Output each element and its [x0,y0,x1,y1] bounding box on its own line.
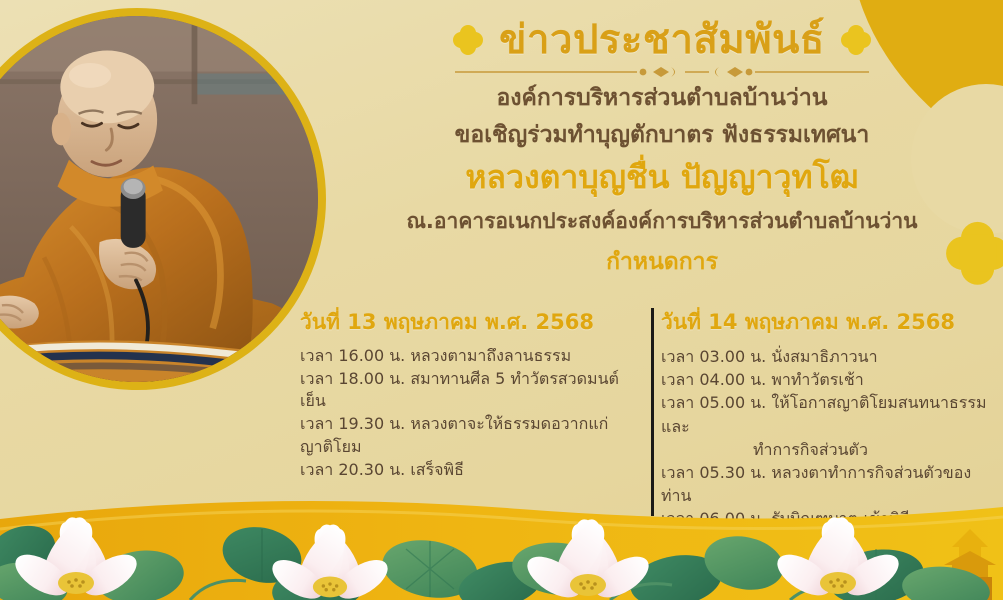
schedule-item: เวลา 20.30 น. เสร็จพิธี [300,459,631,482]
schedule-item: เวลา 04.00 น. พาทำวัตรเช้า [661,368,997,391]
title-divider-ornament [447,64,877,78]
monk-name: หลวงตาบุญชื่น ปัญญาวุทโฒ [332,158,992,196]
schedule-item-continuation: ทำการกิจส่วนตัว [661,438,997,461]
schedule-column-day2: วันที่ 14 พฤษภาคม พ.ศ. 2568 เวลา 03.00 น… [645,306,997,600]
schedule-item-continuation: ไหว้พระรับศีลถวายทาน พิจารณา [661,554,997,577]
schedule-section: วันที่ 13 พฤษภาคม พ.ศ. 2568 เวลา 16.00 น… [300,306,1000,600]
column-divider [651,308,654,516]
page-title: ข่าวประชาสัมพันธ์ [499,18,825,62]
schedule-item: เวลา 03.00 น. นั่งสมาธิภาวนา [661,345,997,368]
day2-date-title: วันที่ 14 พฤษภาคม พ.ศ. 2568 [661,306,997,339]
organization-name: องค์การบริหารส่วนตำบลบ้านว่าน [332,84,992,113]
monk-portrait-frame [0,8,326,390]
header-block: ข่าวประชาสัมพันธ์ องค์การบริหารส่วนตำบลบ… [332,18,992,280]
quatrefoil-ornament-left-icon [453,25,483,55]
quatrefoil-ornament-right-icon [841,25,871,55]
schedule-column-day1: วันที่ 13 พฤษภาคม พ.ศ. 2568 เวลา 16.00 น… [300,306,645,600]
title-row: ข่าวประชาสัมพันธ์ [332,18,992,62]
schedule-item: เวลา 06.00 น. รับบิณฑบาต-เข้าพิธีทางพุทธ… [661,507,997,553]
schedule-item: เวลา 05.00 น. ให้โอกาสญาติโยมสนทนาธรรมแล… [661,391,997,437]
schedule-item: เวลา 18.00 น. สมาทานศีล 5 ทำวัตรสวดมนต์เ… [300,368,631,413]
venue-line: ณ.อาคารอเนกประสงค์องค์การบริหารส่วนตำบลบ… [332,205,992,238]
poster-canvas: ข่าวประชาสัมพันธ์ องค์การบริหารส่วนตำบลบ… [0,0,1003,600]
agenda-label: กำหนดการ [332,244,992,280]
day1-date-title: วันที่ 13 พฤษภาคม พ.ศ. 2568 [300,306,631,339]
schedule-item-continuation: อาหาร อนุโมทนาบุญให้พร [661,577,997,600]
schedule-item: เวลา 05.30 น. หลวงตาทำการกิจส่วนตัวของท่… [661,461,997,507]
schedule-item: เวลา 16.00 น. หลวงตามาถึงลานธรรม [300,345,631,368]
invitation-line: ขอเชิญร่วมทำบุญตักบาตร ฟังธรรมเทศนา [332,121,992,150]
monk-portrait-photo [0,16,318,382]
schedule-item: เวลา 19.30 น. หลวงตาจะให้ธรรมดอวากแก่ญาต… [300,413,631,458]
